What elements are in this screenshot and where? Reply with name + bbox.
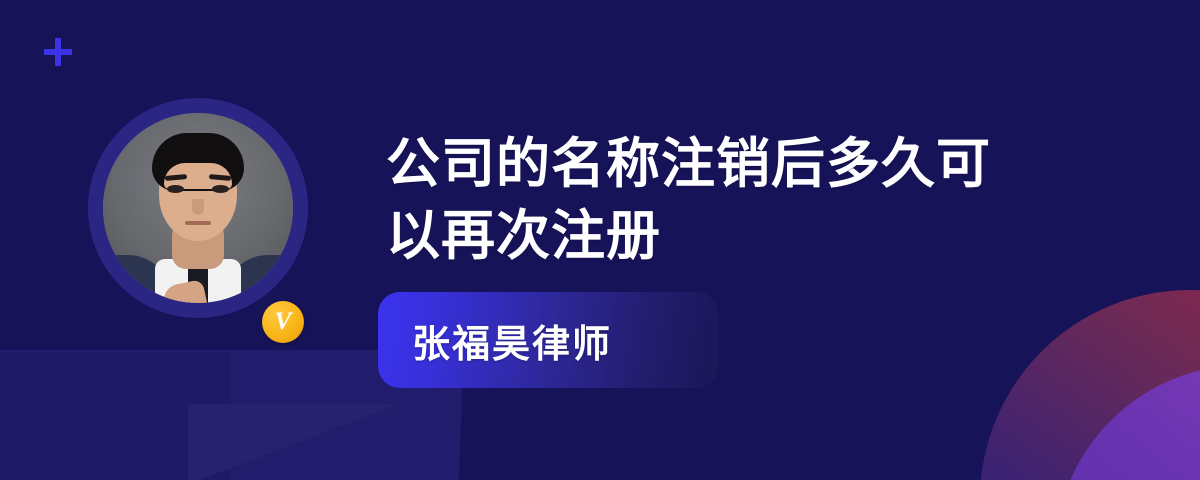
portrait-eye-left: [167, 185, 184, 193]
page-title-line-2: 以再次注册: [386, 206, 661, 266]
promo-banner: V 公司的名称注销后多久可 以再次注册 张福昊律师: [0, 0, 1200, 480]
verified-check-glyph: V: [262, 301, 304, 343]
avatar: [88, 98, 308, 318]
page-title-line-1: 公司的名称注销后多久可: [386, 134, 991, 194]
portrait-hair: [152, 133, 244, 191]
page-title: 公司的名称注销后多久可 以再次注册: [386, 128, 1086, 272]
portrait-mouth: [185, 221, 211, 225]
author-name-badge: 张福昊律师: [378, 292, 718, 388]
decor-left-block-shape: [0, 352, 230, 480]
verified-badge-icon: V: [262, 301, 304, 343]
decor-purple-circle: [1055, 365, 1200, 480]
author-name-label: 张福昊律师: [412, 313, 612, 368]
plus-icon-vertical-bar: [55, 38, 61, 66]
plus-icon: [44, 38, 72, 66]
decor-maroon-circle: [980, 290, 1200, 480]
portrait-nose: [192, 199, 204, 215]
avatar-photo: [103, 113, 293, 303]
decor-triangle-shape: [188, 404, 398, 480]
portrait-eye-right: [212, 185, 229, 193]
